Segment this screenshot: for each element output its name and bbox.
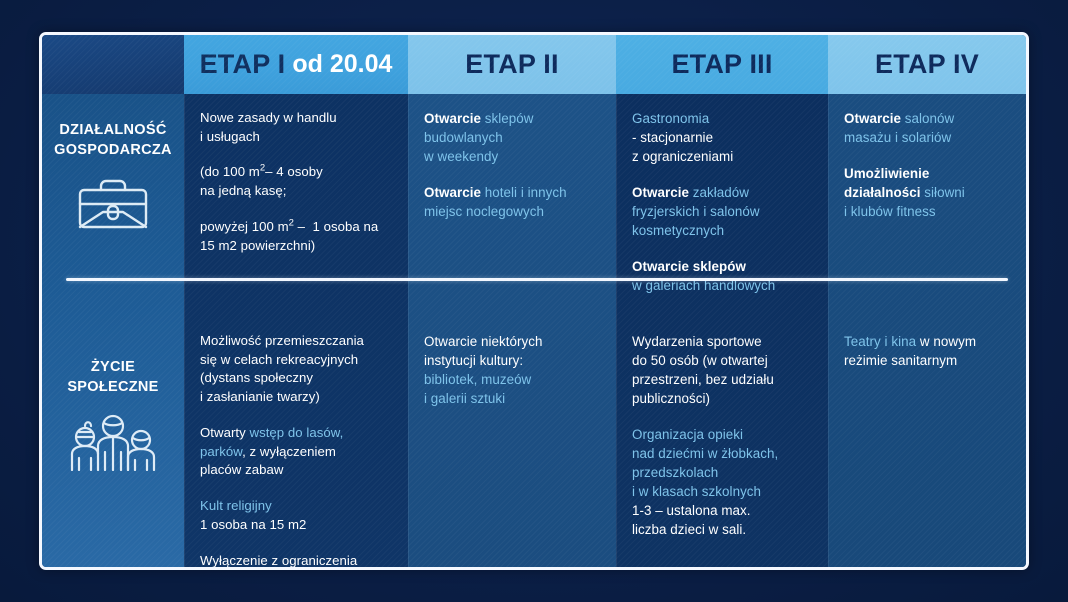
text-block: Otwarcie sklepów w galeriach handlowych xyxy=(632,257,814,295)
text-run: z ograniczeniami xyxy=(632,147,814,166)
text-block: Kult religijny 1 osoba na 15 m2 xyxy=(200,497,394,534)
row-label-line-1: ŻYCIE xyxy=(91,358,135,378)
section-etap-4-gospodarcza: Otwarcie salonów masażu i solariów Umożl… xyxy=(844,109,1012,302)
text-run: (dystans społeczny xyxy=(200,369,394,388)
text-block: Otwarty wstęp do lasów, parków, z wyłącz… xyxy=(200,424,394,480)
section-etap-4-spoleczne: Teatry i kina w nowym reżimie sanitarnym xyxy=(844,302,1012,370)
cell-etap-3-body: Gastronomia - stacjonarnie z ograniczeni… xyxy=(616,94,828,567)
column-separator xyxy=(616,94,617,567)
briefcase-icon xyxy=(76,176,150,237)
text-run: salonów xyxy=(901,111,954,126)
header-etap-2: ETAP II xyxy=(408,35,616,94)
row-label-line-2: GOSPODARCZA xyxy=(54,141,172,161)
text-run: publiczności) xyxy=(632,389,814,408)
text-run: przestrzeni, bez udziału xyxy=(632,370,814,389)
text-run: wstęp do lasów, xyxy=(246,425,344,440)
text-run: przedszkolach xyxy=(632,463,814,482)
text-block: Wydarzenia sportowe do 50 osób (w otwart… xyxy=(632,332,814,408)
header-etap-3: ETAP III xyxy=(616,35,828,94)
text-run: zakładów xyxy=(689,185,749,200)
text-run: masażu i solariów xyxy=(844,128,1012,147)
text-run: Teatry i kina xyxy=(844,334,916,349)
column-separator xyxy=(408,94,409,567)
text-run: hoteli i innych xyxy=(481,185,567,200)
text-run: 1-3 – ustalona max. xyxy=(632,501,814,520)
text-emphasis: Otwarcie xyxy=(632,185,689,200)
text-block: Gastronomia - stacjonarnie z ograniczeni… xyxy=(632,109,814,166)
row-label-dzialalnosc-gospodarcza: DZIAŁALNOŚĆ GOSPODARCZA xyxy=(42,94,184,302)
header-etap-3-title: ETAP III xyxy=(671,49,772,80)
text-run: - stacjonarnie xyxy=(632,128,814,147)
text-run: i zasłanianie twarzy) xyxy=(200,388,394,407)
text-run: Możliwość przemieszczania xyxy=(200,332,394,351)
text-run: kosmetycznych xyxy=(632,221,814,240)
text-run: i galerii sztuki xyxy=(424,389,602,408)
text-run: bibliotek, muzeów xyxy=(424,370,602,389)
column-separator xyxy=(184,94,185,567)
row-labels-column: DZIAŁALNOŚĆ GOSPODARCZA xyxy=(42,94,184,567)
text-run: parków xyxy=(200,444,242,459)
text-emphasis: w nowym xyxy=(916,334,976,349)
cell-etap-2-body: Otwarcie sklepów budowlanych w weekendy … xyxy=(408,94,616,567)
text-run: powyżej 100 m2 – 1 osoba na xyxy=(200,218,394,237)
text-run: Wydarzenia sportowe xyxy=(632,332,814,351)
section-etap-1-spoleczne: Możliwość przemieszczania się w celach r… xyxy=(200,302,394,567)
text-emphasis: działalności xyxy=(844,185,921,200)
text-run: w handlu xyxy=(280,110,337,125)
text-emphasis: Otwarcie xyxy=(424,185,481,200)
text-run: i klubów fitness xyxy=(844,202,1012,221)
text-block: Możliwość przemieszczania się w celach r… xyxy=(200,332,394,407)
text-block: Organizacja opieki nad dziećmi w żłobkac… xyxy=(632,425,814,539)
text-block: Teatry i kina w nowym reżimie sanitarnym xyxy=(844,332,1012,370)
section-etap-3-gospodarcza: Gastronomia - stacjonarnie z ograniczeni… xyxy=(632,109,814,302)
text-emphasis: , z wyłączeniem xyxy=(242,444,336,459)
text-run: do 50 osób (w otwartej xyxy=(632,351,814,370)
text-run: Kult religijny xyxy=(200,497,394,516)
infographic-stage: ETAP I od 20.04 ETAP II ETAP III ETAP IV… xyxy=(0,0,1068,602)
text-block: (do 100 m2– 4 osoby na jedną kasę; xyxy=(200,163,394,200)
people-group-icon xyxy=(65,413,161,476)
section-etap-3-spoleczne: Wydarzenia sportowe do 50 osób (w otwart… xyxy=(632,302,814,539)
text-emphasis: Otwarcie xyxy=(844,111,901,126)
text-run: Gastronomia xyxy=(632,109,814,128)
row-label-zycie-spoleczne: ŻYCIE SPOŁECZNE xyxy=(42,302,184,567)
cell-etap-4-body: Otwarcie salonów masażu i solariów Umożl… xyxy=(828,94,1026,567)
text-run: fryzjerskich i salonów xyxy=(632,202,814,221)
text-run: liczba dzieci w sali. xyxy=(632,520,814,539)
text-emphasis: Nowe zasady xyxy=(200,110,280,125)
header-etap-1: ETAP I od 20.04 xyxy=(184,35,408,94)
header-etap-2-title: ETAP II xyxy=(465,49,558,80)
stages-grid: ETAP I od 20.04 ETAP II ETAP III ETAP IV… xyxy=(42,35,1026,567)
text-emphasis: Umożliwienie xyxy=(844,164,1012,183)
text-run: (do 100 m2– 4 osoby xyxy=(200,163,394,182)
header-etap-1-title: ETAP I xyxy=(200,49,286,80)
row-divider xyxy=(66,278,1008,281)
text-run: sklepów xyxy=(481,111,534,126)
section-etap-2-spoleczne: Otwarcie niektórych instytucji kultury: … xyxy=(424,302,602,408)
text-run: Wyłączenie z ograniczenia xyxy=(200,552,394,567)
row-label-line-1: DZIAŁALNOŚĆ xyxy=(59,121,166,141)
text-block: Otwarcie salonów masażu i solariów xyxy=(844,109,1012,147)
text-emphasis: Otwarcie xyxy=(424,111,481,126)
row-label-line-2: SPOŁECZNE xyxy=(67,378,158,398)
section-etap-1-gospodarcza: Nowe zasady w handlu i usługach (do 100 … xyxy=(200,109,394,302)
text-block: Wyłączenie z ograniczenia przemieszczani… xyxy=(200,552,394,567)
text-block: Otwarcie sklepów budowlanych w weekendy xyxy=(424,109,602,166)
text-run: w weekendy xyxy=(424,147,602,166)
section-etap-2-gospodarcza: Otwarcie sklepów budowlanych w weekendy … xyxy=(424,109,602,302)
text-run: i w klasach szkolnych xyxy=(632,482,814,501)
text-run: budowlanych xyxy=(424,128,602,147)
text-run: reżimie sanitarnym xyxy=(844,351,1012,370)
text-block: powyżej 100 m2 – 1 osoba na 15 m2 powier… xyxy=(200,218,394,255)
text-run: Organizacja opieki xyxy=(632,425,814,444)
text-run: 1 osoba na 15 m2 xyxy=(200,516,394,535)
cell-etap-1-body: Nowe zasady w handlu i usługach (do 100 … xyxy=(184,94,408,567)
text-run: 15 m2 powierzchni) xyxy=(200,237,394,256)
table-corner-cell xyxy=(42,35,184,94)
text-emphasis: Otwarcie sklepów xyxy=(632,257,814,276)
text-block: Otwarcie niektórych instytucji kultury: … xyxy=(424,332,602,408)
text-run: Otwarcie niektórych xyxy=(424,332,602,351)
text-run: siłowni xyxy=(921,185,965,200)
header-etap-1-date-badge: od 20.04 xyxy=(292,50,392,79)
column-separator xyxy=(828,94,829,567)
text-block: Umożliwienie działalności siłowni i klub… xyxy=(844,164,1012,221)
header-etap-4: ETAP IV xyxy=(828,35,1026,94)
text-run: miejsc noclegowych xyxy=(424,202,602,221)
text-run: instytucji kultury: xyxy=(424,351,602,370)
text-emphasis: Otwarty xyxy=(200,425,246,440)
text-block: Nowe zasady w handlu i usługach xyxy=(200,109,394,146)
header-etap-4-title: ETAP IV xyxy=(875,49,979,80)
text-block: Otwarcie zakładów fryzjerskich i salonów… xyxy=(632,183,814,240)
text-run: placów zabaw xyxy=(200,461,394,480)
text-run: nad dziećmi w żłobkach, xyxy=(632,444,814,463)
text-run: się w celach rekreacyjnych xyxy=(200,351,394,370)
text-block: Otwarcie hoteli i innych miejsc noclegow… xyxy=(424,183,602,221)
stages-table-panel: ETAP I od 20.04 ETAP II ETAP III ETAP IV… xyxy=(39,32,1029,570)
text-run: na jedną kasę; xyxy=(200,182,394,201)
text-run: i usługach xyxy=(200,128,394,147)
